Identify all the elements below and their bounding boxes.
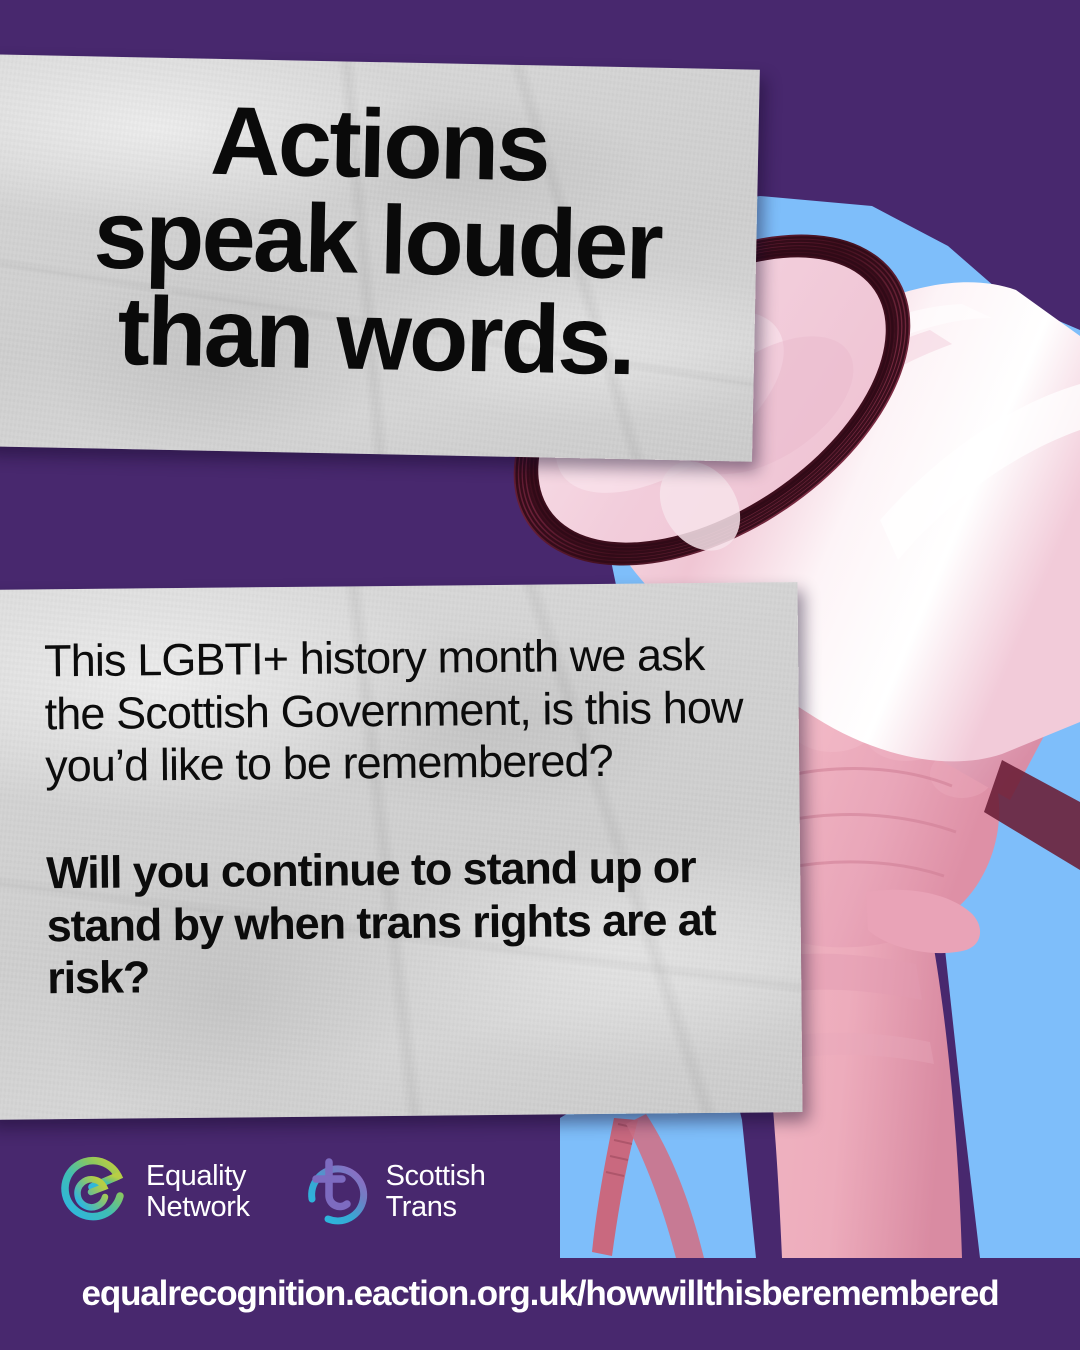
logo-scottish-trans[interactable]: Scottish Trans [298,1152,486,1231]
campaign-url[interactable]: equalrecognition.eaction.org.uk/howwillt… [0,1274,1080,1314]
equality-network-wordmark: Equality Network [146,1161,250,1222]
scottish-trans-wordmark: Scottish Trans [386,1161,486,1222]
equality-network-e-icon [58,1152,132,1231]
body-paragraph-2: Will you continue to stand up or stand b… [46,840,761,1005]
poster-canvas: Actionsspeak louderthan words. This LGBT… [0,0,1080,1350]
headline-paper-panel: Actionsspeak louderthan words. [0,54,760,461]
body-paper-panel: This LGBTI+ history month we ask the Sco… [0,582,803,1120]
body-paragraph-1: This LGBTI+ history month we ask the Sco… [44,628,759,793]
page-title: Actionsspeak louderthan words. [42,89,714,390]
logo-row: Equality Network [58,1152,486,1231]
logo-equality-network[interactable]: Equality Network [58,1152,250,1231]
scottish-trans-t-icon [298,1152,372,1231]
headline-line-3: than words. [117,276,635,395]
